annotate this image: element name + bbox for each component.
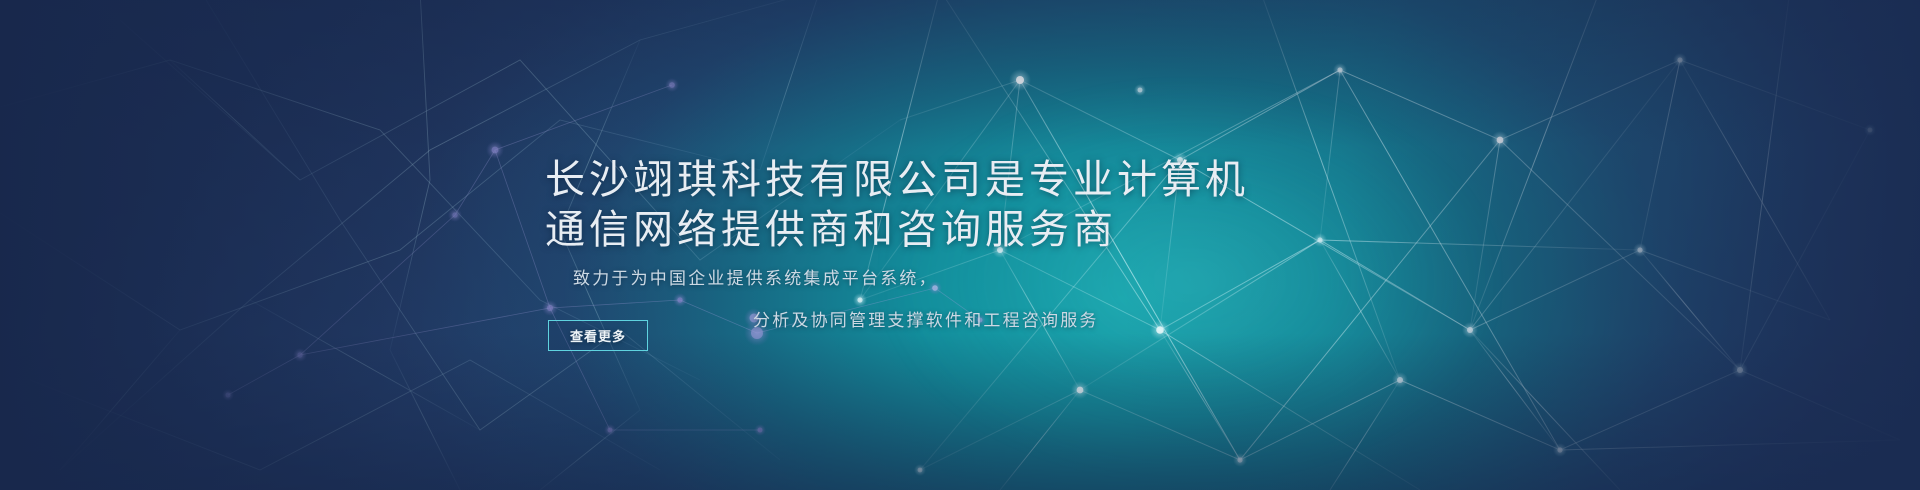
subheadline-block: 致力于为中国企业提供系统集成平台系统， 分析及协同管理支撑软件和工程咨询服务 <box>573 258 1353 342</box>
headline-line-2: 通信网络提供商和咨询服务商 <box>545 205 1245 255</box>
hero-banner: 长沙翊琪科技有限公司是专业计算机 通信网络提供商和咨询服务商 致力于为中国企业提… <box>0 0 1920 490</box>
subheadline-line-2: 分析及协同管理支撑软件和工程咨询服务 <box>573 300 1353 342</box>
view-more-button-label: 查看更多 <box>570 326 626 345</box>
headline-line-1: 长沙翊琪科技有限公司是专业计算机 <box>545 155 1245 205</box>
headline-block: 长沙翊琪科技有限公司是专业计算机 通信网络提供商和咨询服务商 <box>545 155 1245 255</box>
banner-content: 长沙翊琪科技有限公司是专业计算机 通信网络提供商和咨询服务商 致力于为中国企业提… <box>0 0 1920 490</box>
view-more-button[interactable]: 查看更多 <box>548 320 648 351</box>
subheadline-line-1: 致力于为中国企业提供系统集成平台系统， <box>573 258 1353 300</box>
